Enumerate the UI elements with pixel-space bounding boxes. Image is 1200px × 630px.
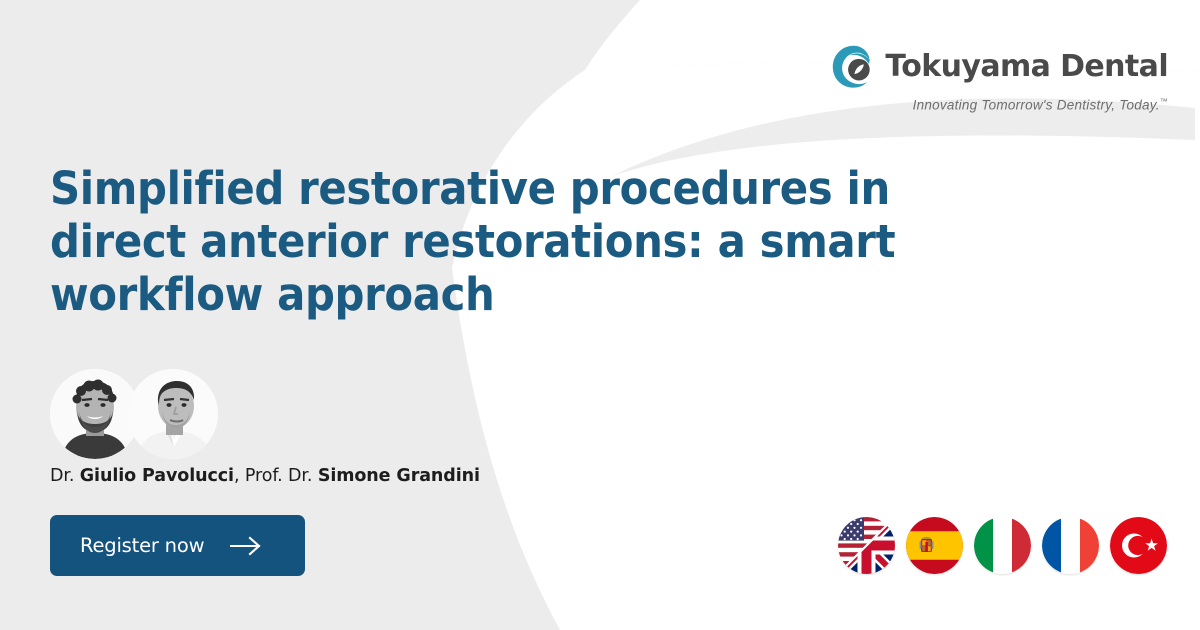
logo-row: Tokuyama Dental [868, 44, 1168, 89]
brand-name: Tokuyama Dental [885, 52, 1168, 82]
brand-tagline-text: Innovating Tomorrow's Dentistry, Today. [913, 98, 1160, 113]
presenter-1-name: Giulio Pavolucci [80, 466, 234, 486]
flag-france-icon[interactable] [1042, 517, 1099, 574]
presenter-avatars [50, 369, 218, 459]
register-now-button[interactable]: Register now [50, 515, 305, 576]
flag-us-uk-icon[interactable] [838, 517, 895, 574]
arrow-right-icon [230, 536, 262, 556]
language-flags [838, 517, 1167, 574]
presenter-separator: , [234, 466, 245, 486]
webinar-promo-banner: Tokuyama Dental Innovating Tomorrow's De… [0, 0, 1200, 630]
tokuyama-swoosh-logo-icon [831, 44, 876, 89]
trademark-mark: ™ [1160, 97, 1168, 106]
register-now-label: Register now [80, 534, 204, 557]
flag-turkey-icon[interactable] [1110, 517, 1167, 574]
avatar-simone-grandini [128, 369, 218, 459]
flag-italy-icon[interactable] [974, 517, 1031, 574]
brand-logo: Tokuyama Dental Innovating Tomorrow's De… [868, 44, 1168, 113]
presenter-names: Dr. Giulio Pavolucci, Prof. Dr. Simone G… [50, 466, 480, 486]
brand-tagline: Innovating Tomorrow's Dentistry, Today.™ [868, 97, 1168, 113]
presenter-2-title: Prof. Dr. [245, 466, 318, 486]
flag-spain-icon[interactable] [906, 517, 963, 574]
presenter-1-title: Dr. [50, 466, 80, 486]
presenter-2-name: Simone Grandini [318, 466, 480, 486]
avatar-giulio-pavolucci [50, 369, 140, 459]
page-title: Simplified restorative procedures in dir… [50, 162, 943, 321]
